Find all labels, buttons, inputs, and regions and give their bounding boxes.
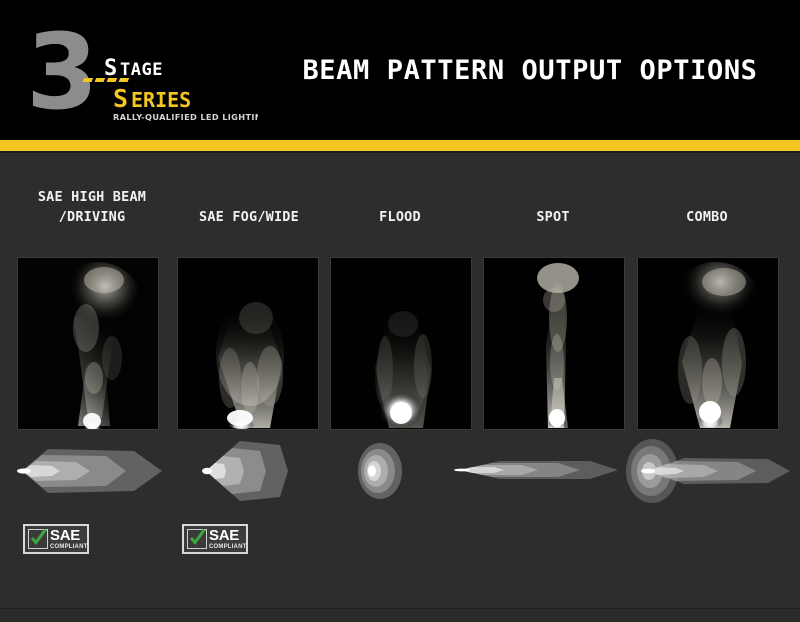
sae-badge-secondary: COMPLIANT [209,544,246,550]
poster-header: 3 S TAGE S ERIES RALLY-QUALIFIED LED LIG… [0,0,800,140]
logo-tagline: RALLY-QUALIFIED LED LIGHTING [113,112,258,122]
sae-compliant-badge-driving: SAE COMPLIANT [23,524,89,554]
beam-pattern-poster: 3 S TAGE S ERIES RALLY-QUALIFIED LED LIG… [0,0,800,622]
logo-word-series: S [113,84,128,113]
beam-photo-spot [483,257,625,430]
column-label-sae-fog-wide: SAE FOG/WIDE [178,207,320,227]
beam-diagram-combo [624,435,796,507]
logo-word-stage: S [104,56,118,81]
beam-photo-combo [637,257,779,430]
page-title: BEAM PATTERN OUTPUT OPTIONS [270,0,790,140]
beam-diagram-wide [196,439,316,503]
column-label-sae-high-beam-driving: SAE HIGH BEAM /DRIVING [16,187,168,227]
beam-diagram-spot [456,445,624,495]
sae-badge-text: SAE COMPLIANT [50,528,87,550]
green-check-icon [28,529,48,549]
sae-badge-text: SAE COMPLIANT [209,528,246,550]
sae-badge-primary: SAE [50,528,80,543]
sae-badge-primary: SAE [209,528,239,543]
poster-bottom-edge [0,608,800,622]
svg-text:ERIES: ERIES [131,88,191,112]
yellow-accent-bar [0,140,800,151]
beam-photo-flood [330,257,472,430]
column-label-spot: SPOT [483,207,623,227]
poster-body: SAE HIGH BEAM /DRIVING [0,153,800,608]
beam-diagram-flood [358,439,448,503]
green-check-icon [187,529,207,549]
beam-photo-sae-fog-wide [177,257,319,430]
beam-diagram-driving [16,441,168,501]
column-label-flood: FLOOD [330,207,470,227]
svg-text:TAGE: TAGE [120,60,163,80]
beam-photo-sae-high-beam-driving [17,257,159,430]
stage-series-logo: 3 S TAGE S ERIES RALLY-QUALIFIED LED LIG… [28,24,258,132]
sae-compliant-badge-fog-wide: SAE COMPLIANT [182,524,248,554]
sae-badge-secondary: COMPLIANT [50,544,87,550]
column-label-combo: COMBO [636,207,778,227]
